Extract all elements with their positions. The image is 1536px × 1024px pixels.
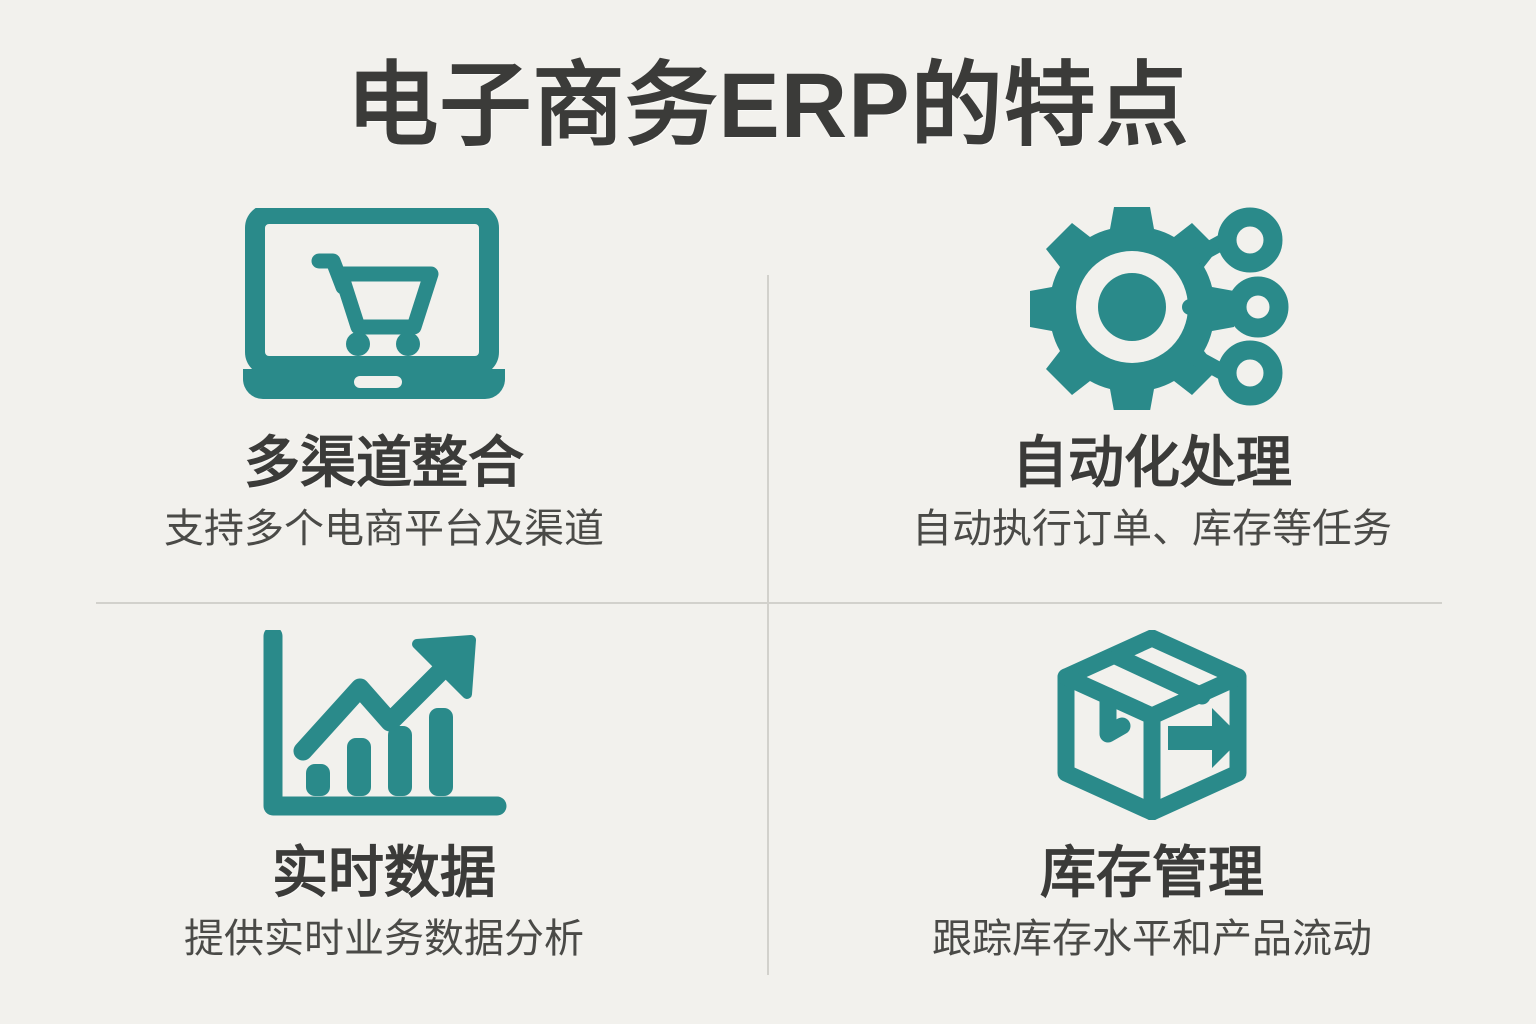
- gear-network-icon: [1002, 200, 1302, 415]
- feature-subtitle: 自动执行订单、库存等任务: [912, 505, 1392, 553]
- feature-title: 库存管理: [1040, 841, 1264, 905]
- feature-card-multichannel: 多渠道整合 支持多个电商平台及渠道: [0, 180, 768, 595]
- package-box-arrow-icon: [1002, 625, 1302, 825]
- feature-grid: 多渠道整合 支持多个电商平台及渠道: [0, 180, 1536, 1010]
- feature-card-automation: 自动化处理 自动执行订单、库存等任务: [768, 180, 1536, 595]
- bar-chart-growth-icon: [234, 625, 534, 825]
- feature-title: 多渠道整合: [244, 431, 524, 495]
- feature-subtitle: 提供实时业务数据分析: [184, 915, 584, 963]
- feature-subtitle: 支持多个电商平台及渠道: [164, 505, 604, 553]
- laptop-shopping-cart-icon: [234, 200, 534, 415]
- feature-title: 自动化处理: [1012, 431, 1292, 495]
- feature-card-inventory: 库存管理 跟踪库存水平和产品流动: [768, 595, 1536, 1010]
- feature-title: 实时数据: [272, 841, 496, 905]
- feature-card-realtime-data: 实时数据 提供实时业务数据分析: [0, 595, 768, 1010]
- page-title: 电子商务ERP的特点: [0, 52, 1536, 160]
- feature-subtitle: 跟踪库存水平和产品流动: [932, 915, 1372, 963]
- infographic-poster: 电子商务ERP的特点: [0, 0, 1536, 1024]
